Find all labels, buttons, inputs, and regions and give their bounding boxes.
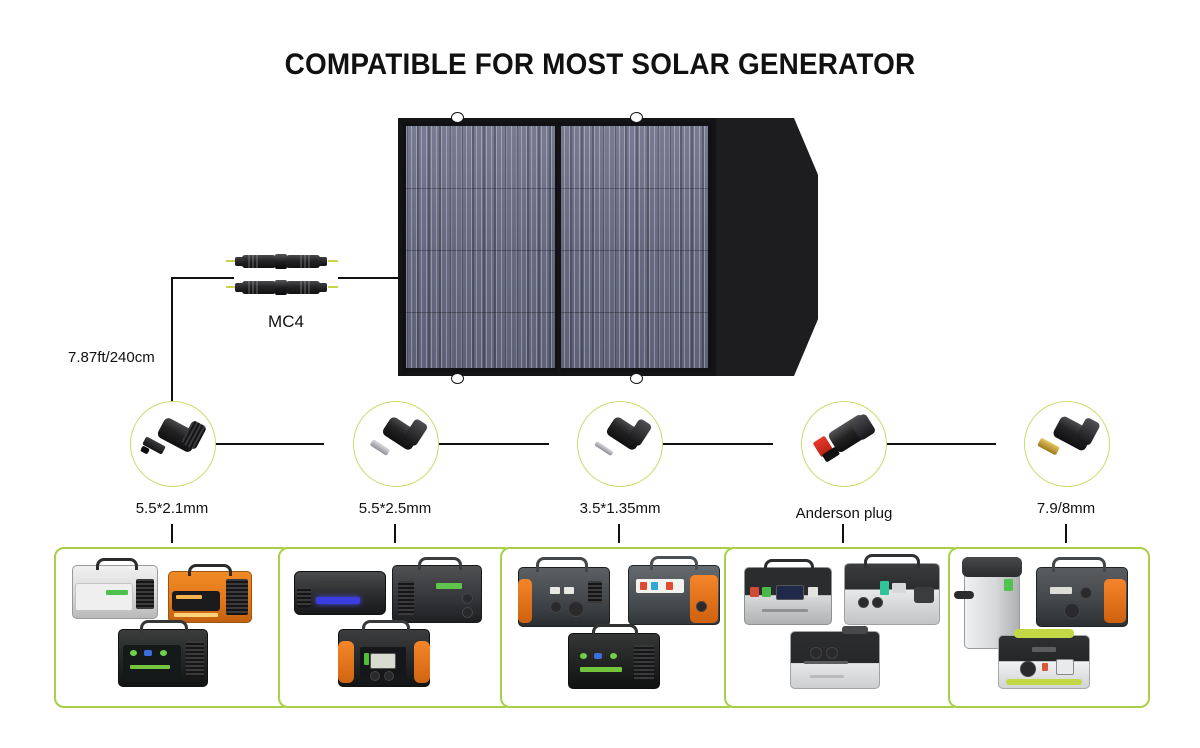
dc-5525-plug-icon [354, 402, 438, 486]
tick-to-group-3 [618, 524, 620, 543]
anderson-plug-icon [802, 402, 886, 486]
silver-power-station [72, 565, 158, 619]
grommet-icon [630, 112, 643, 123]
connector-circle-dc-35135[interactable] [577, 401, 663, 487]
page-title: COMPATIBLE FOR MOST SOLAR GENERATOR [42, 48, 1158, 82]
white-lime-power-station [998, 635, 1090, 689]
compatible-devices-group-4 [724, 547, 962, 708]
connector-circle-dc-5525[interactable] [353, 401, 439, 487]
solar-cells-right [559, 126, 708, 368]
dc-5521-plug-icon [131, 402, 215, 486]
compatible-devices-group-1 [54, 547, 292, 708]
compatible-devices-group-2 [278, 547, 514, 708]
tick-to-group-4 [842, 524, 844, 543]
wire-mc4-to-corner [172, 277, 234, 279]
solar-panel-flap [698, 118, 818, 376]
black-green-power-station [118, 629, 208, 687]
mc4-connector-bottom [242, 278, 330, 297]
wire-link-4-5 [886, 443, 996, 445]
white-handle-power-station [844, 563, 940, 625]
connector-circle-dc-5521[interactable] [130, 401, 216, 487]
solar-panel-body [398, 118, 716, 376]
black-green-power-station [568, 633, 660, 689]
folding-solar-panel [398, 118, 818, 376]
dark-gray-power-station [392, 565, 482, 623]
tick-to-group-1 [171, 524, 173, 543]
mc4-connector-pair [234, 252, 338, 304]
compatible-devices-group-5 [948, 547, 1150, 708]
wire-panel-to-mc4 [338, 277, 400, 279]
connector-label-dc-35135: 3.5*1.35mm [555, 500, 685, 517]
grommet-icon [630, 373, 643, 384]
orange-accent-power-station [628, 565, 720, 625]
gray-orange-power-station [518, 567, 610, 627]
tick-to-group-5 [1065, 524, 1067, 543]
gray-orange-power-station [1036, 567, 1128, 627]
flat-black-inverter [294, 571, 386, 615]
grommet-icon [451, 112, 464, 123]
dc-35135-plug-icon [578, 402, 662, 486]
compatible-devices-group-3 [500, 547, 738, 708]
mc4-connector-top [242, 252, 330, 271]
white-black-cube-station [790, 631, 880, 689]
wire-link-1-2 [214, 443, 324, 445]
wire-link-2-3 [437, 443, 549, 445]
connector-circle-dc-798[interactable] [1024, 401, 1110, 487]
orange-black-power-station [338, 629, 430, 687]
panel-center-divider [557, 126, 561, 376]
solar-panel-section-left [406, 126, 555, 368]
orange-power-station [168, 571, 252, 623]
silver-black-power-station [744, 567, 832, 625]
connector-label-dc-5525: 5.5*2.5mm [333, 500, 457, 517]
connector-label-dc-798: 7.9/8mm [1004, 500, 1128, 517]
connector-label-anderson: Anderson plug [778, 505, 910, 522]
grommet-icon [451, 373, 464, 384]
connector-label-dc-5521: 5.5*2.1mm [110, 500, 234, 517]
mc4-label: MC4 [234, 312, 338, 332]
cable-length-label: 7.87ft/240cm [68, 349, 155, 366]
solar-panel-section-right [559, 126, 708, 368]
dc-798-plug-icon [1025, 402, 1109, 486]
solar-cells-left [406, 126, 555, 368]
tick-to-group-2 [394, 524, 396, 543]
connector-circle-anderson[interactable] [801, 401, 887, 487]
wire-link-3-4 [661, 443, 773, 445]
